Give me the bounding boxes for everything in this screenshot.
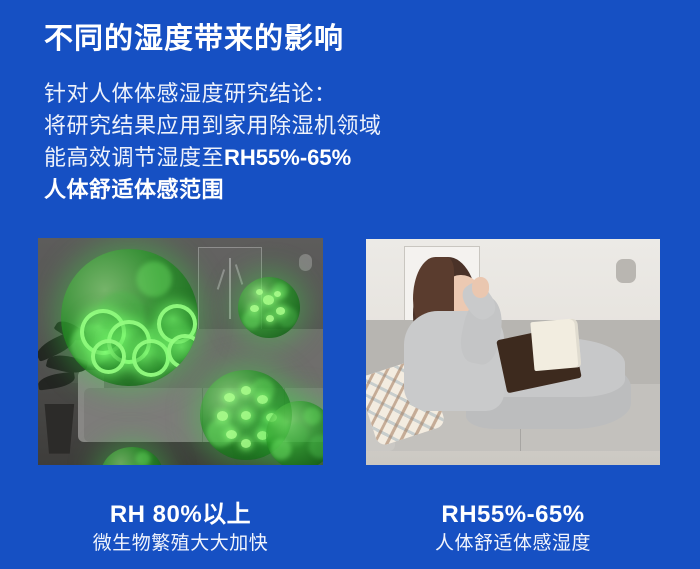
- intro-paragraph: 针对人体体感湿度研究结论： 将研究结果应用到家用除湿机领域 能高效调节湿度至RH…: [44, 78, 484, 206]
- microbe-blob-edge: [266, 401, 323, 465]
- caption-subtitle: 人体舒适体感湿度: [366, 530, 660, 558]
- caption-subtitle: 微生物繁殖大大加快: [38, 530, 323, 558]
- intro-line-3-range: RH55%-65%: [224, 145, 351, 170]
- intro-line-4: 人体舒适体感范围: [44, 174, 484, 206]
- microbe-cell: [167, 334, 197, 369]
- microbe-cell: [132, 339, 170, 377]
- branch-art-icon: [229, 258, 231, 318]
- microbe-blob-large: [61, 249, 198, 385]
- microbe-blob-small: [238, 277, 301, 338]
- person-hand: [472, 277, 490, 297]
- microbe-spike: [226, 430, 237, 439]
- book-page: [530, 318, 581, 371]
- intro-line-3: 能高效调节湿度至RH55%-65%: [44, 142, 484, 174]
- wall-thermostat-icon: [299, 254, 312, 271]
- humidity-comparison-poster: 不同的湿度带来的影响 针对人体体感湿度研究结论： 将研究结果应用到家用除湿机领域…: [0, 0, 700, 569]
- caption-high-humidity: RH 80%以上 微生物繁殖大大加快: [38, 500, 323, 558]
- caption-comfort-humidity: RH55%-65% 人体舒适体感湿度: [366, 500, 660, 558]
- microbe-texture: [101, 447, 164, 465]
- microbe-blob-edge: [101, 447, 164, 465]
- photo-comfort-humidity: [366, 239, 660, 465]
- intro-line-1: 针对人体体感湿度研究结论：: [44, 78, 484, 110]
- intro-line-2: 将研究结果应用到家用除湿机领域: [44, 110, 484, 142]
- microbe-texture: [238, 277, 301, 338]
- wall-thermostat-icon: [616, 259, 636, 283]
- microbe-texture: [266, 401, 323, 465]
- microbe-spike: [276, 307, 285, 314]
- microbe-spike: [217, 411, 228, 420]
- caption-title: RH55%-65%: [366, 500, 660, 530]
- page-title: 不同的湿度带来的影响: [44, 19, 344, 59]
- intro-line-3-prefix: 能高效调节湿度至: [44, 145, 224, 170]
- microbe-spike: [263, 295, 274, 305]
- photo-high-humidity: [38, 238, 323, 465]
- microbe-spike: [241, 439, 252, 448]
- microbe-spike: [250, 305, 259, 312]
- caption-title: RH 80%以上: [38, 500, 323, 530]
- microbe-spike: [241, 411, 251, 419]
